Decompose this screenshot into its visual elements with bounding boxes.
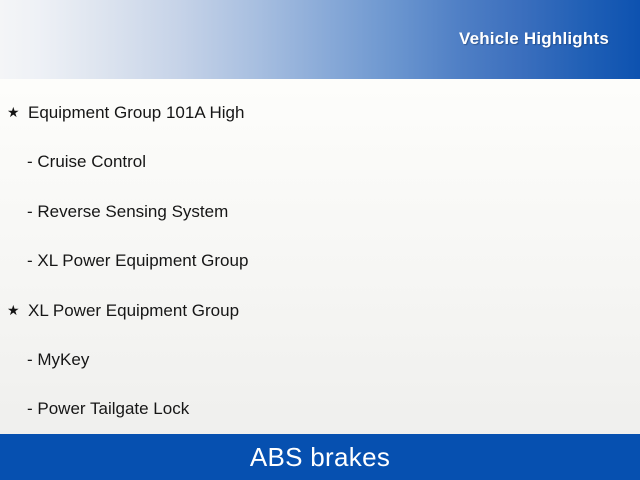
list-item-label: - MyKey bbox=[27, 335, 89, 384]
page-title: Vehicle Highlights bbox=[459, 29, 609, 49]
header-banner: Vehicle Highlights bbox=[0, 0, 640, 79]
list-item-label: - Reverse Sensing System bbox=[27, 187, 228, 236]
list-item-label: XL Power Equipment Group bbox=[28, 286, 239, 335]
vehicle-highlights-slide: Vehicle Highlights ★Equipment Group 101A… bbox=[0, 0, 640, 480]
list-item-label: - Cruise Control bbox=[27, 137, 146, 186]
list-item: ★Equipment Group 101A High bbox=[0, 88, 640, 137]
list-item: - MyKey bbox=[0, 335, 640, 384]
list-item: - Power Tailgate Lock bbox=[0, 384, 640, 433]
star-bullet-icon: ★ bbox=[7, 286, 20, 335]
list-item-label: - XL Power Equipment Group bbox=[27, 236, 248, 285]
list-item: - Cruise Control bbox=[0, 137, 640, 186]
footer-title: ABS brakes bbox=[250, 442, 390, 473]
footer-banner: ABS brakes bbox=[0, 434, 640, 480]
list-item: - Reverse Sensing System bbox=[0, 187, 640, 236]
highlights-list: ★Equipment Group 101A High- Cruise Contr… bbox=[0, 88, 640, 434]
list-item: ★XL Power Equipment Group bbox=[0, 286, 640, 335]
star-bullet-icon: ★ bbox=[7, 88, 20, 137]
list-item-label: Equipment Group 101A High bbox=[28, 88, 244, 137]
list-item-label: - Power Tailgate Lock bbox=[27, 384, 189, 433]
list-item: - XL Power Equipment Group bbox=[0, 236, 640, 285]
